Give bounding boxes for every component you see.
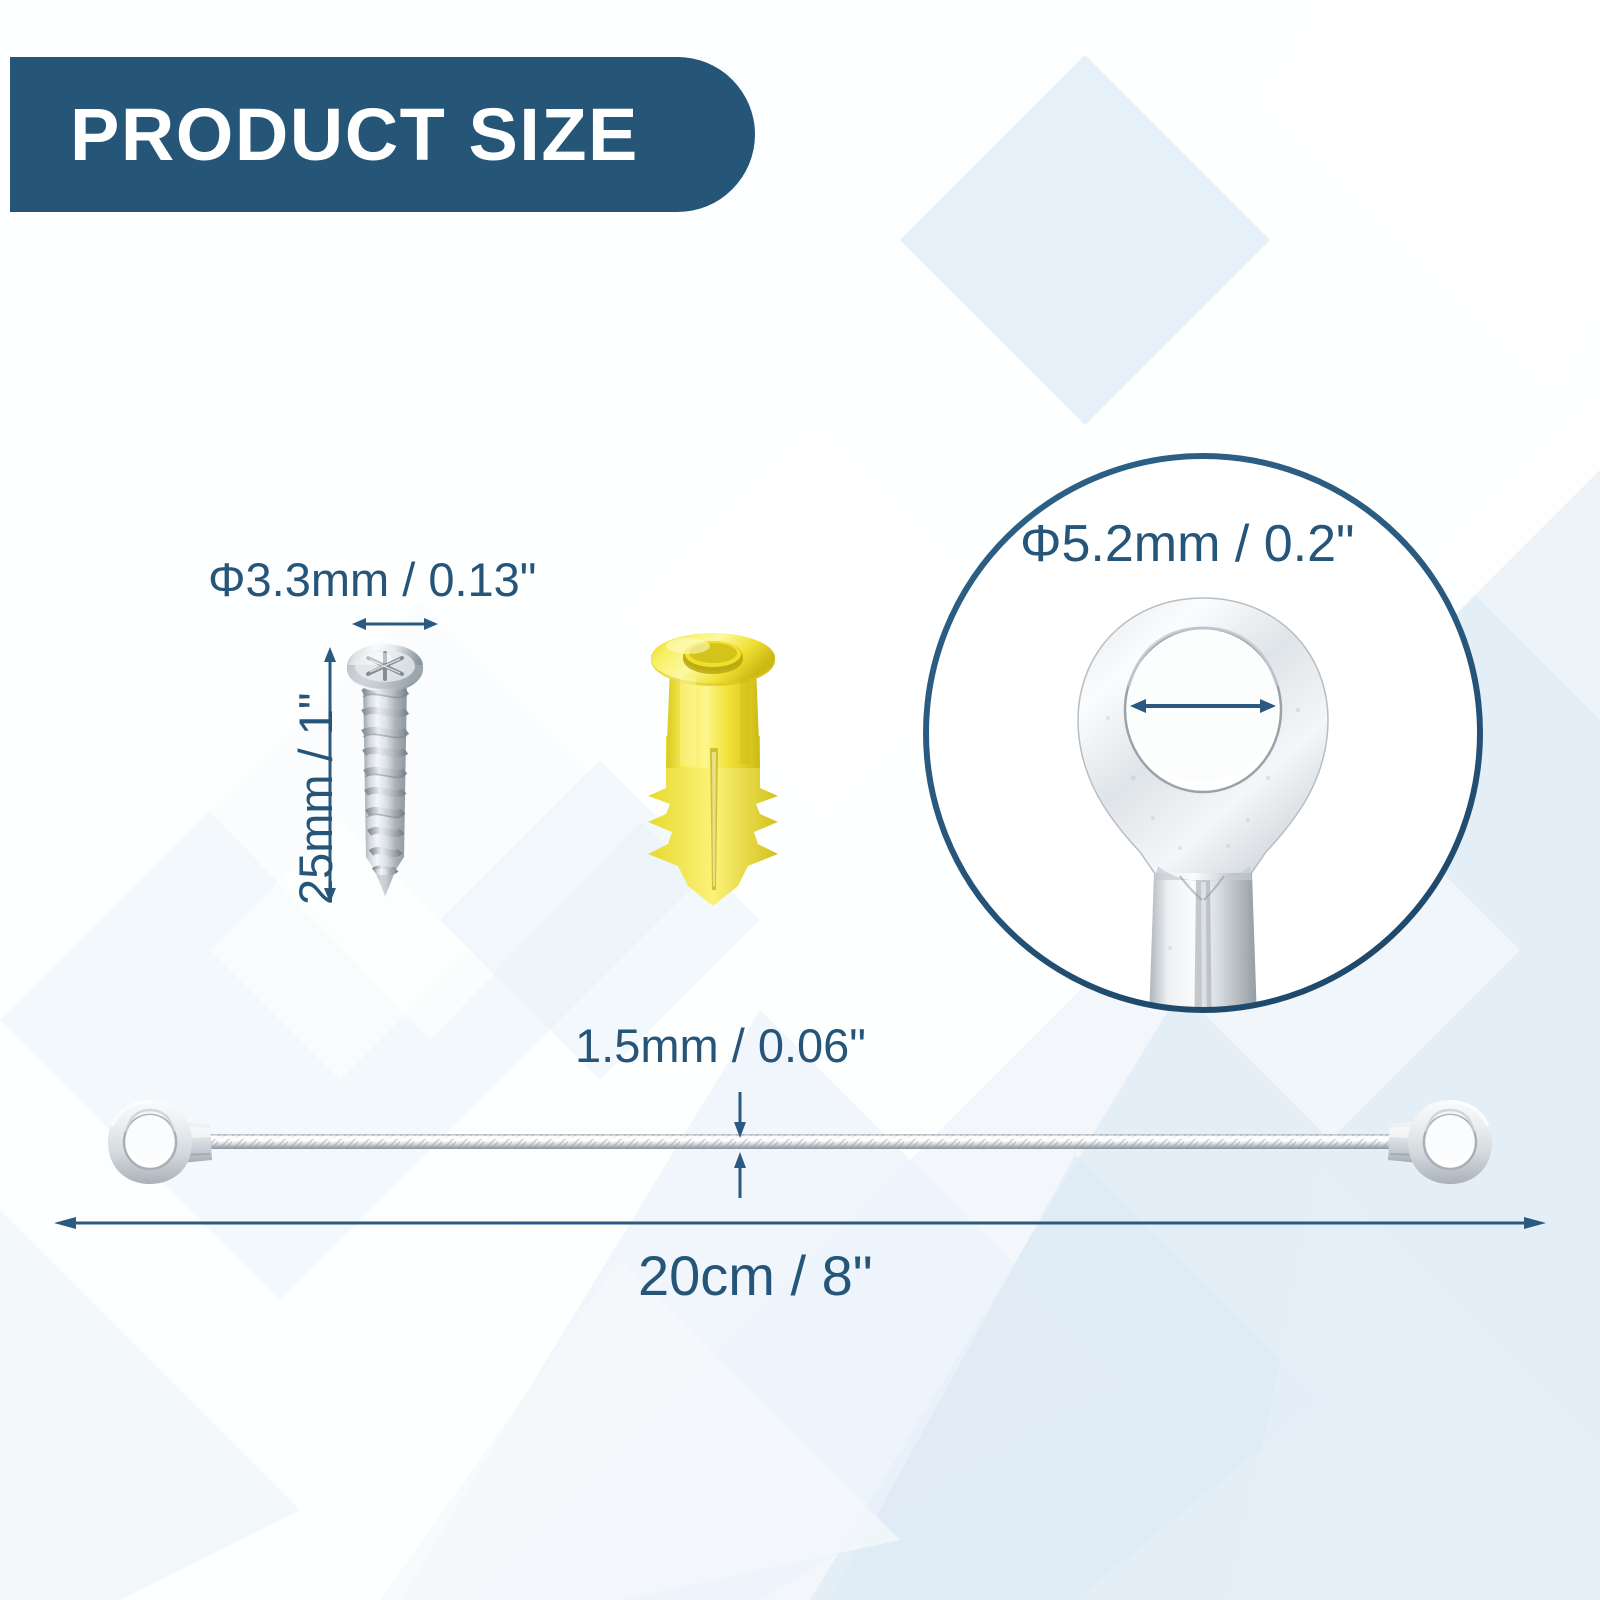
cable-thickness-label: 1.5mm / 0.06" <box>575 1022 866 1069</box>
screw-illustration <box>330 625 440 915</box>
infographic-canvas: PRODUCT SIZE <box>0 0 1600 1600</box>
ring-hole-label: Φ5.2mm / 0.2" <box>1020 518 1355 570</box>
wall-anchor-illustration <box>628 618 798 918</box>
header-banner: PRODUCT SIZE <box>10 57 755 212</box>
screw-length-label: 25mm / 1" <box>292 692 339 905</box>
page-title: PRODUCT SIZE <box>70 98 639 172</box>
screw-diameter-arrow <box>350 612 440 636</box>
cable-length-dimension-line <box>50 1210 1550 1236</box>
cable-left-ring-terminal <box>108 1100 212 1184</box>
cable-thickness-arrow <box>725 1090 755 1200</box>
cable-right-ring-terminal <box>1388 1100 1492 1184</box>
cable-assembly-illustration <box>50 1082 1550 1202</box>
screw-diameter-label: Φ3.3mm / 0.13" <box>208 556 536 603</box>
cable-length-label: 20cm / 8" <box>638 1248 873 1304</box>
